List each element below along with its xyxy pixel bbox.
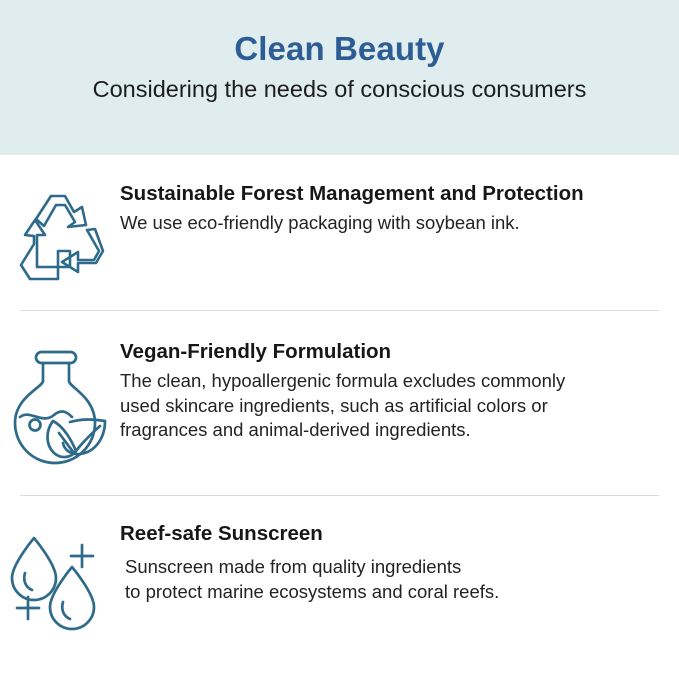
water-drops-plus-icon: [0, 521, 120, 633]
feature-body-line: We use eco-friendly packaging with soybe…: [120, 211, 661, 236]
feature-heading: Reef-safe Sunscreen: [120, 521, 661, 546]
feature-body-line: to protect marine ecosystems and coral r…: [125, 580, 661, 605]
feature-body-line: The clean, hypoallergenic formula exclud…: [120, 369, 661, 394]
feature-text-block: Sustainable Forest Management and Protec…: [120, 181, 679, 236]
feature-text-block: Vegan-Friendly Formulation The clean, hy…: [120, 339, 679, 443]
feature-body: The clean, hypoallergenic formula exclud…: [120, 369, 661, 443]
feature-body: We use eco-friendly packaging with soybe…: [120, 211, 661, 236]
feature-text-block: Reef-safe Sunscreen Sunscreen made from …: [120, 521, 679, 604]
feature-item-vegan-formulation: Vegan-Friendly Formulation The clean, hy…: [0, 311, 679, 465]
page-subtitle: Considering the needs of conscious consu…: [93, 75, 587, 103]
feature-list: Sustainable Forest Management and Protec…: [0, 155, 679, 633]
feature-body-line: used skincare ingredients, such as artif…: [120, 394, 661, 419]
feature-heading: Sustainable Forest Management and Protec…: [120, 181, 661, 206]
feature-heading: Vegan-Friendly Formulation: [120, 339, 661, 364]
feature-item-reef-safe-sunscreen: Reef-safe Sunscreen Sunscreen made from …: [0, 496, 679, 633]
flask-leaf-icon: [0, 339, 120, 465]
header-banner: Clean Beauty Considering the needs of co…: [0, 0, 679, 155]
page-title: Clean Beauty: [234, 30, 444, 69]
feature-item-sustainable-forest: Sustainable Forest Management and Protec…: [0, 155, 679, 281]
recycle-icon: [0, 181, 120, 281]
feature-body: Sunscreen made from quality ingredients …: [120, 555, 661, 604]
feature-body-line: Sunscreen made from quality ingredients: [125, 555, 661, 580]
feature-body-line: fragrances and animal-derived ingredient…: [120, 418, 661, 443]
